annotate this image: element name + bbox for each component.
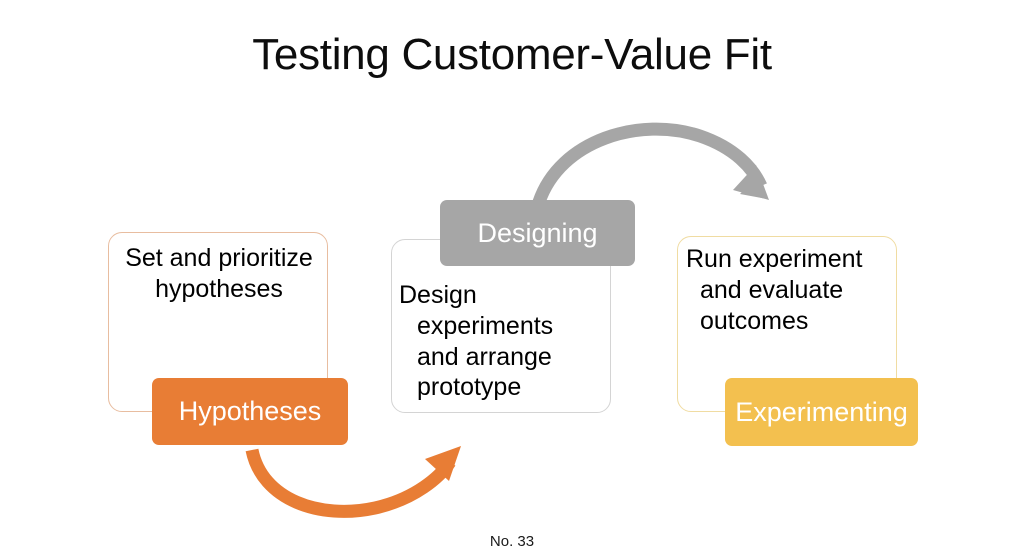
stage-description-hypotheses: Set and prioritize hypotheses [109, 243, 329, 305]
slide-canvas: Testing Customer-Value Fit Set and prior… [0, 0, 1024, 556]
stage-tab-hypotheses[interactable]: Hypotheses [152, 378, 348, 445]
stage-description-experimenting: Run experiment and evaluate outcomes [686, 244, 892, 336]
page-title: Testing Customer-Value Fit [0, 30, 1024, 81]
stage-description-designing: Design experiments and arrange prototype [400, 280, 606, 403]
slide-number: No. 33 [0, 533, 1024, 550]
stage-tab-designing[interactable]: Designing [440, 200, 635, 266]
arrow-hypotheses-to-designing-icon [252, 446, 461, 511]
arrow-designing-to-experimenting-icon [539, 129, 769, 202]
stage-tab-experimenting[interactable]: Experimenting [725, 378, 918, 446]
